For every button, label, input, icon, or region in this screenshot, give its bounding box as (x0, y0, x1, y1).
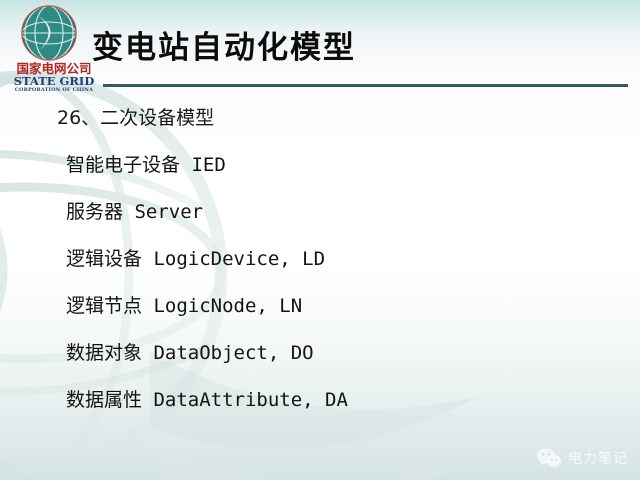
list-item: 数据对象 DataObject, DO (66, 344, 348, 363)
wechat-watermark: 电力笔记 (536, 448, 628, 468)
state-grid-globe-icon (18, 4, 80, 62)
logo-name-en: STATE GRID (10, 75, 98, 87)
list-item: 服务器 Server (66, 203, 348, 222)
logo-name-sub: CORPORATION OF CHINA (10, 87, 98, 93)
wechat-watermark-text: 电力笔记 (568, 448, 628, 468)
list-item: 数据属性 DataAttribute, DA (66, 391, 348, 410)
state-grid-logo: 国家电网公司 STATE GRID CORPORATION OF CHINA (6, 2, 98, 94)
list-item: 逻辑设备 LogicDevice, LD (66, 250, 348, 269)
section-heading: 26、二次设备模型 (57, 103, 214, 130)
slide-title: 变电站自动化模型 (92, 22, 356, 67)
title-divider (103, 84, 628, 87)
list-item: 智能电子设备 IED (66, 156, 348, 175)
wechat-icon (536, 448, 562, 468)
slide-canvas: 国家电网公司 STATE GRID CORPORATION OF CHINA 变… (0, 0, 640, 480)
model-term-list: 智能电子设备 IED 服务器 Server 逻辑设备 LogicDevice, … (66, 156, 348, 438)
list-item: 逻辑节点 LogicNode, LN (66, 297, 348, 316)
